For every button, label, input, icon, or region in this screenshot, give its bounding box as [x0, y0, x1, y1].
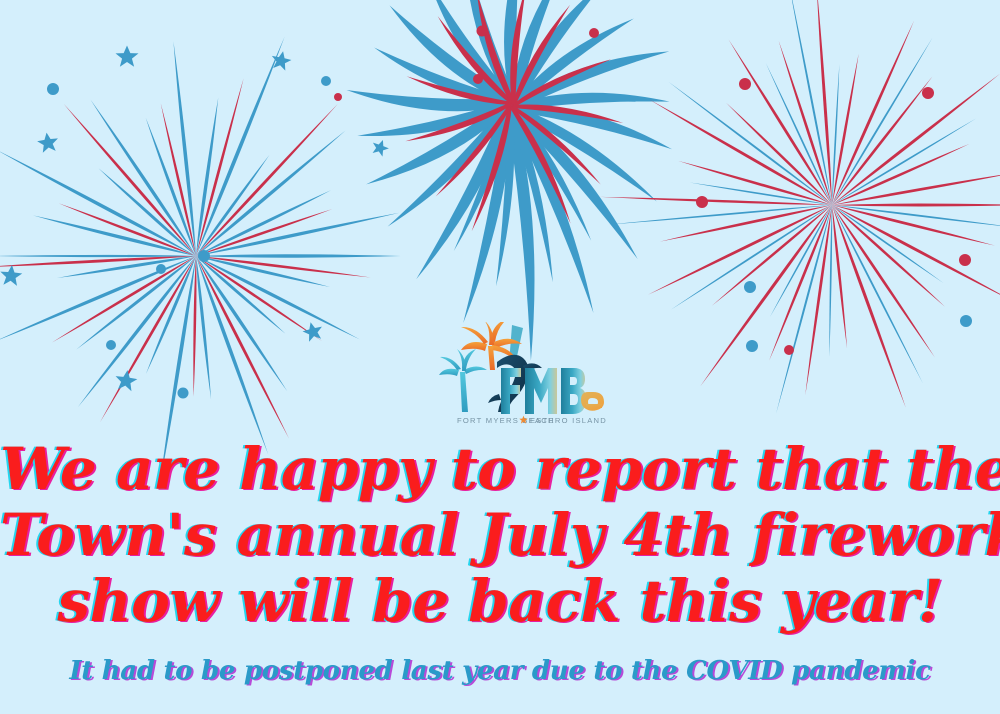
- fmbe-logo: FORT MYERS BEACH ESTERO ISLAND: [435, 322, 610, 434]
- palm-tree-teal-icon: [439, 349, 487, 412]
- subtitle: It had to be postponed last year due to …: [0, 654, 1000, 688]
- firework-left: [0, 36, 401, 486]
- logo-wordmark-fmb: [501, 368, 586, 414]
- star-decorations: [0, 46, 391, 392]
- firework-center: [346, 0, 675, 361]
- logo-wordmark-e: [581, 392, 604, 411]
- poster-canvas: FORT MYERS BEACH ESTERO ISLAND We are ha…: [0, 0, 1000, 714]
- headline: We are happy to report that the Town's a…: [0, 436, 1000, 634]
- firework-right: [600, 0, 1000, 414]
- logo-tagline-right: ESTERO ISLAND: [530, 416, 607, 425]
- logo-tagline: FORT MYERS BEACH ESTERO ISLAND: [457, 416, 607, 425]
- headline-line-1: We are happy to report that the: [0, 436, 1000, 502]
- headline-line-3: show will be back this year!: [0, 568, 1000, 634]
- headline-line-2: Town's annual July 4th fireworks: [0, 502, 1000, 568]
